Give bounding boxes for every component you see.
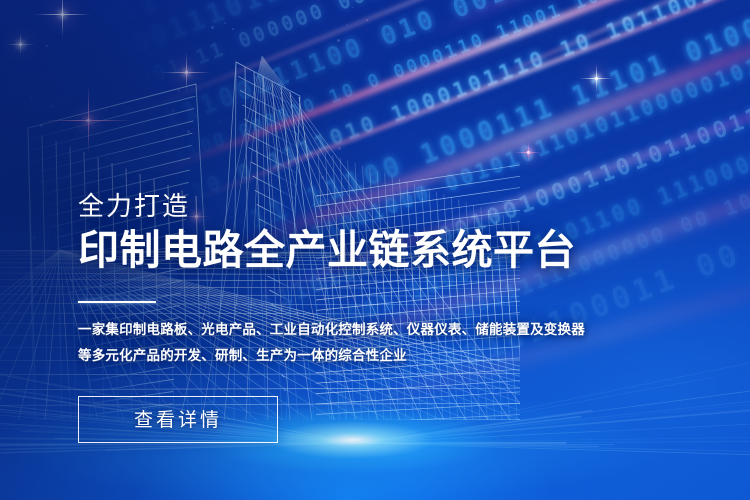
- dust-mote: [72, 297, 75, 300]
- dust-mote: [92, 29, 93, 30]
- hero-eyebrow: 全力打造: [78, 192, 638, 221]
- star-sparkle-icon: [32, 0, 92, 44]
- dust-mote: [105, 109, 107, 111]
- dust-mote: [121, 175, 124, 178]
- dust-mote: [126, 82, 127, 83]
- hero-description-line-1: 一家集印制电路板、光电产品、工业自动化控制系统、仪器仪表、储能装置及变换器: [78, 317, 638, 343]
- divider-rule: [78, 301, 156, 303]
- dust-mote: [51, 105, 54, 108]
- star-sparkle-icon: [4, 28, 36, 60]
- dust-mote: [46, 45, 48, 47]
- ground-streak: [355, 443, 678, 450]
- dust-mote: [33, 236, 36, 239]
- dust-mote: [30, 97, 32, 99]
- ground-streak: [355, 443, 599, 446]
- ground-streak: [355, 443, 750, 454]
- hero-banner: 011111101 1000 01 0 1110111 000001110110…: [0, 0, 750, 500]
- ground-streak: [355, 443, 750, 457]
- dust-mote: [40, 124, 43, 127]
- hero-description-line-2: 等多元化产品的开发、研制、生产为一体的综合性企业: [78, 343, 638, 369]
- hero-description: 一家集印制电路板、光电产品、工业自动化控制系统、仪器仪表、储能装置及变换器 等多…: [78, 317, 638, 370]
- hero-headline: 印制电路全产业链系统平台: [78, 228, 638, 273]
- star-sparkle-icon: [42, 74, 134, 166]
- dust-mote: [107, 157, 109, 159]
- dust-mote: [20, 171, 21, 172]
- view-details-button[interactable]: 查看详情: [78, 396, 278, 443]
- hero-copy-block: 全力打造 印制电路全产业链系统平台 一家集印制电路板、光电产品、工业自动化控制系…: [78, 192, 638, 443]
